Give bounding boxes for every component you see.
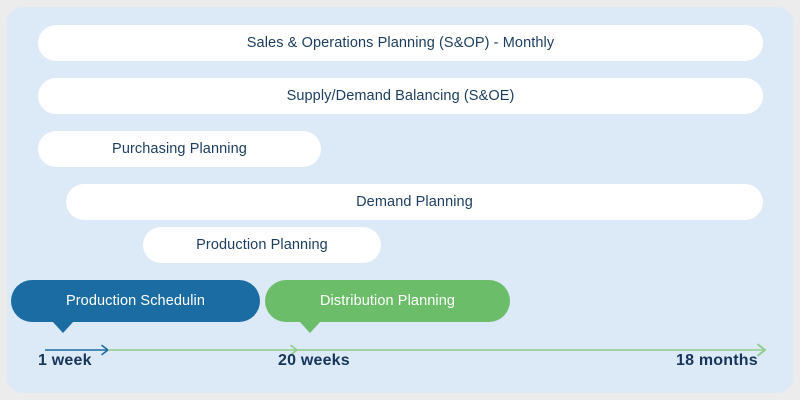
timeline-axis	[45, 341, 770, 359]
bar-production-scheduling[interactable]: Production Schedulin	[11, 280, 260, 322]
bar-demand-planning[interactable]: Demand Planning	[66, 184, 763, 220]
timeline-canvas: Sales & Operations Planning (S&OP) - Mon…	[0, 0, 800, 400]
tick-label-18-months: 18 months	[676, 352, 758, 370]
bar-distribution-planning[interactable]: Distribution Planning	[265, 280, 510, 322]
bar-label: Sales & Operations Planning (S&OP) - Mon…	[247, 35, 554, 51]
bar-purchasing-planning[interactable]: Purchasing Planning	[38, 131, 321, 167]
bar-label: Purchasing Planning	[112, 141, 247, 157]
bar-label: Supply/Demand Balancing (S&OE)	[287, 88, 515, 104]
tick-label-20-weeks: 20 weeks	[278, 352, 350, 370]
bar-production-planning[interactable]: Production Planning	[143, 227, 381, 263]
bar-sop-monthly[interactable]: Sales & Operations Planning (S&OP) - Mon…	[38, 25, 763, 61]
tick-label-1-week: 1 week	[38, 352, 92, 370]
bar-label: Production Planning	[196, 237, 328, 253]
planning-horizon-card: Sales & Operations Planning (S&OP) - Mon…	[7, 7, 793, 393]
production-scheduling-pointer-icon	[52, 321, 74, 333]
tick-text: 1 week	[38, 352, 92, 369]
bar-label: Distribution Planning	[320, 293, 455, 309]
bar-supply-demand-balancing[interactable]: Supply/Demand Balancing (S&OE)	[38, 78, 763, 114]
bar-label: Production Schedulin	[66, 293, 205, 309]
distribution-planning-pointer-icon	[299, 321, 321, 333]
bar-label: Demand Planning	[356, 194, 473, 210]
tick-text: 20 weeks	[278, 352, 350, 369]
tick-text: 18 months	[676, 352, 758, 369]
